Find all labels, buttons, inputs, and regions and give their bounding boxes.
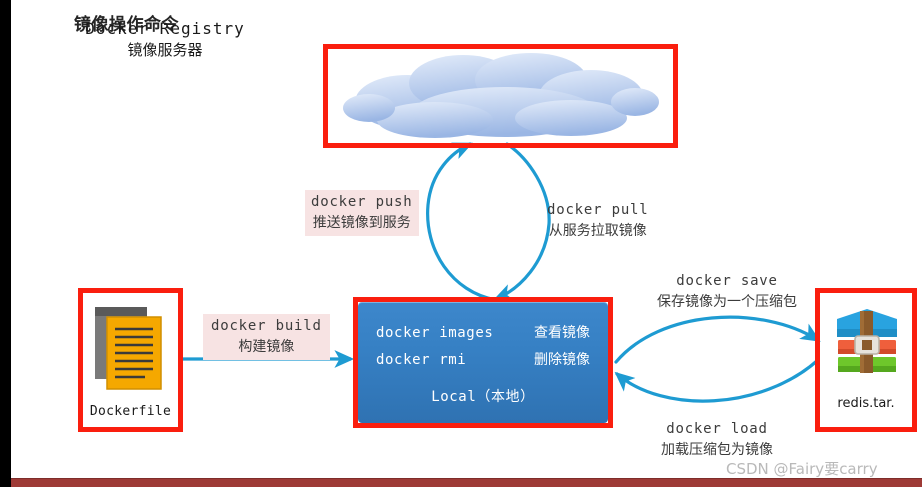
label-docker-load-command: docker load <box>661 419 773 440</box>
label-docker-save-description: 保存镜像为一个压缩包 <box>657 292 797 313</box>
page-title: 镜像操作命令 <box>74 10 179 35</box>
label-docker-pull: docker pull 从服务拉取镜像 <box>547 200 649 242</box>
left-edge-strip <box>0 0 11 487</box>
dockerfile-label: Dockerfile <box>78 404 183 419</box>
label-docker-build: docker build 构建镜像 <box>203 314 330 360</box>
label-docker-push-command: docker push <box>311 192 413 213</box>
document-icon <box>95 307 167 392</box>
label-docker-pull-description: 从服务拉取镜像 <box>547 221 649 242</box>
local-box-frame <box>353 297 613 428</box>
label-docker-build-description: 构建镜像 <box>211 337 322 358</box>
winrar-archive-icon <box>831 303 903 383</box>
label-docker-push-description: 推送镜像到服务 <box>311 213 413 234</box>
watermark: CSDN @Fairy要carry <box>726 458 878 479</box>
label-docker-save: docker save 保存镜像为一个压缩包 <box>657 271 797 313</box>
archive-label: redis.tar. <box>815 396 917 411</box>
label-docker-save-command: docker save <box>657 271 797 292</box>
label-docker-load: docker load 加载压缩包为镜像 <box>661 419 773 461</box>
label-docker-push: docker push 推送镜像到服务 <box>305 190 419 236</box>
label-docker-build-command: docker build <box>211 316 322 337</box>
bottom-edge-bar <box>11 478 922 487</box>
registry-subtitle: 镜像服务器 <box>0 39 330 61</box>
label-docker-pull-command: docker pull <box>547 200 649 221</box>
diagram-canvas: 镜像操作命令 <box>0 0 922 487</box>
cloud-shape <box>335 50 665 142</box>
